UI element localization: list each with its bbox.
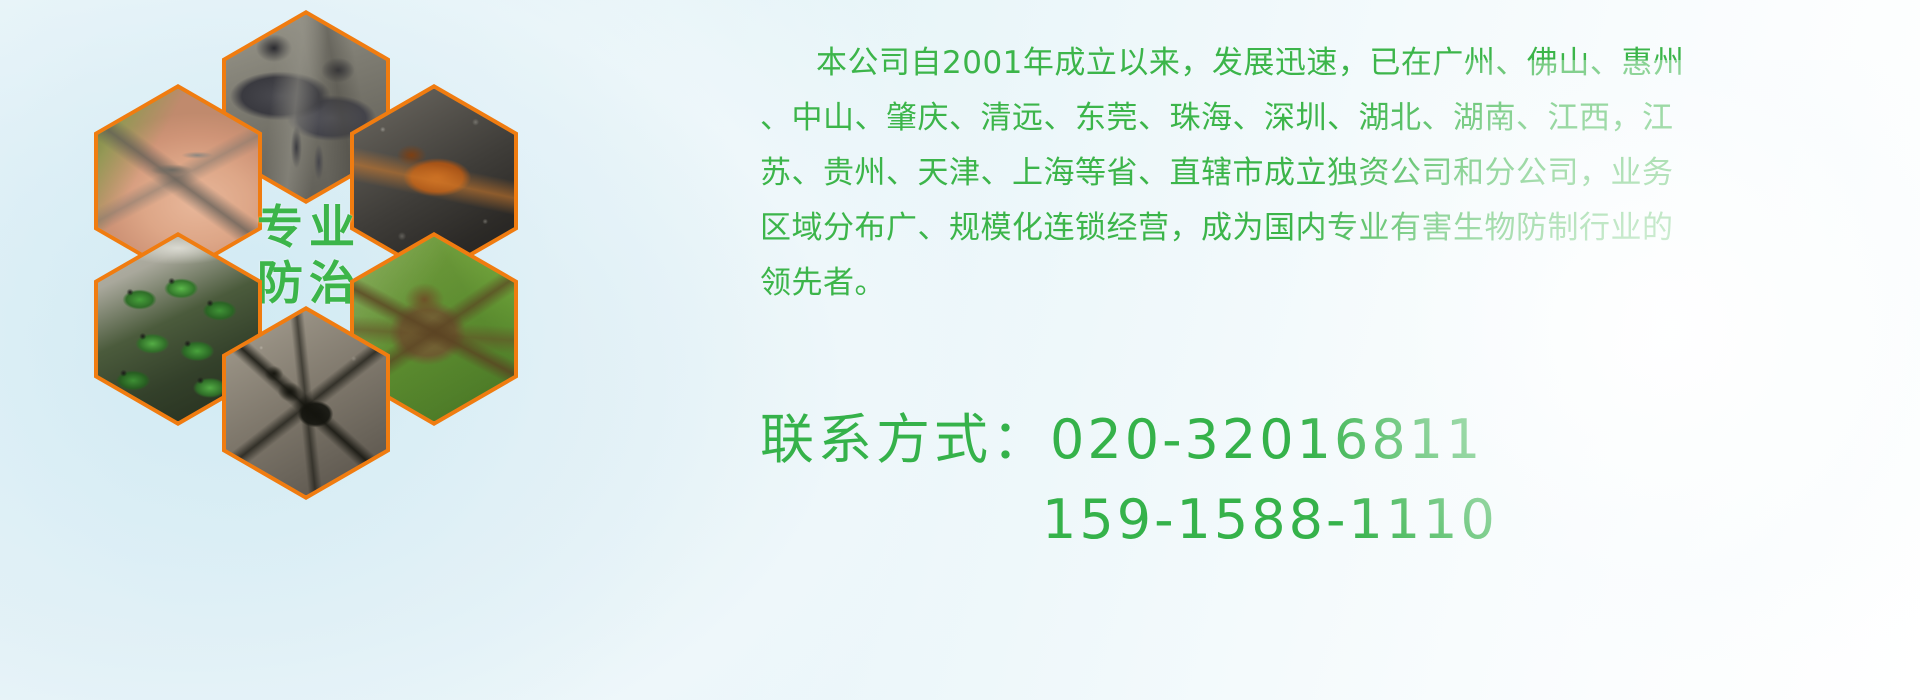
honeycomb-image-collage: 专业 防治 xyxy=(92,10,592,570)
contact-label: 联系方式： xyxy=(760,408,1050,471)
company-description: 本公司自2001年成立以来，发展迅速，已在广州、佛山、惠州 、中山、肇庆、清远、… xyxy=(760,36,1880,311)
company-description-line: 区域分布广、规模化连锁经营，成为国内专业有害生物防制行业的 xyxy=(760,201,1880,256)
slogan-line-1: 专业 xyxy=(251,203,361,251)
contact-primary-line: 联系方式：020-32016811 xyxy=(760,400,1880,480)
company-description-line: 本公司自2001年成立以来，发展迅速，已在广州、佛山、惠州 xyxy=(760,36,1880,91)
slogan-line-2: 防治 xyxy=(251,259,361,307)
promo-banner: 专业 防治 本公司自2001年成立以来，发展迅速，已在广州、佛山、惠州 、中山、… xyxy=(0,0,1920,700)
company-description-line: 苏、贵州、天津、上海等省、直辖市成立独资公司和分公司，业务 xyxy=(760,146,1880,201)
contact-phone-secondary[interactable]: 159-1588-1110 xyxy=(1042,488,1498,551)
company-description-line: 领先者。 xyxy=(760,256,1880,311)
banner-text-column: 本公司自2001年成立以来，发展迅速，已在广州、佛山、惠州 、中山、肇庆、清远、… xyxy=(760,0,1890,700)
contact-information: 联系方式：020-32016811 159-1588-1110 xyxy=(760,400,1880,560)
contact-secondary-line: 159-1588-1110 xyxy=(760,480,1880,560)
company-description-line: 、中山、肇庆、清远、东莞、珠海、深圳、湖北、湖南、江西，江 xyxy=(760,91,1880,146)
contact-phone-primary[interactable]: 020-32016811 xyxy=(1050,408,1483,471)
